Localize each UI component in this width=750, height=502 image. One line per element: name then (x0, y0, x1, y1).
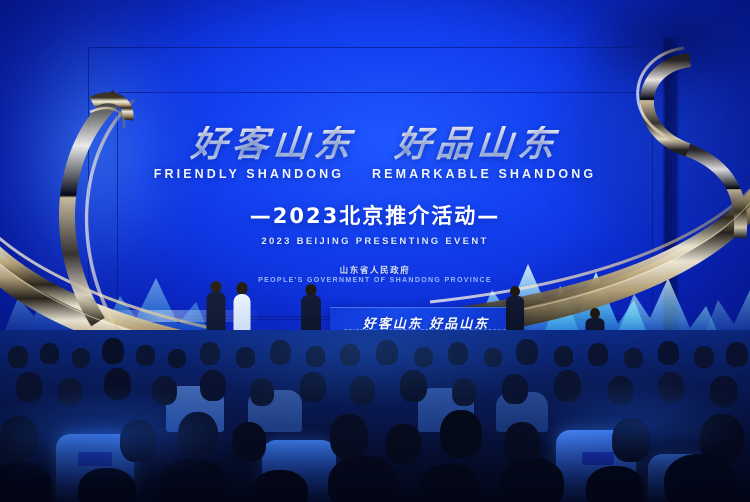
audience-area (0, 330, 750, 502)
audience-head (58, 378, 82, 406)
audience-head (414, 347, 433, 367)
audience-head-front (664, 454, 736, 502)
chair-name-plate (582, 452, 614, 465)
audience-head (232, 422, 266, 462)
audience-head (554, 346, 573, 367)
audience-head (440, 410, 482, 458)
audience-head (400, 370, 427, 402)
audience-head (624, 348, 643, 368)
main-title-en-remarkable: REMARKABLE SHANDONG (372, 167, 596, 181)
audience-head-front (252, 470, 308, 502)
audience-head-front (0, 462, 52, 502)
audience-head (376, 340, 398, 365)
audience-head (588, 343, 608, 366)
audience-head-front (328, 456, 398, 502)
audience-head (0, 416, 38, 460)
audience-head-front (500, 458, 564, 502)
audience-head (250, 378, 274, 406)
event-title-en: 2023 BEIJING PRESENTING EVENT (0, 236, 750, 247)
audience-head (386, 424, 421, 464)
audience-head (40, 343, 59, 364)
audience-head (168, 349, 186, 368)
audience-head (694, 346, 714, 368)
audience-head (658, 341, 679, 365)
event-title-cn: —2023北京推介活动— (0, 200, 750, 230)
audience-head (452, 378, 476, 406)
audience-head-front (586, 466, 644, 502)
audience-head (136, 345, 155, 366)
audience-head (710, 376, 738, 407)
audience-head (152, 376, 177, 405)
audience-head (104, 368, 131, 400)
main-title-cn-friendly: 好客山东 (189, 126, 356, 162)
audience-head (16, 372, 42, 402)
chair-name-plate (78, 452, 112, 466)
audience-head (8, 346, 28, 368)
audience-head (200, 342, 220, 365)
audience-head (236, 347, 255, 368)
audience-head (270, 340, 291, 365)
audience-head (178, 412, 218, 458)
led-title-block: 好客山东 好品山东 FRIENDLY SHANDONG REMARKABLE S… (0, 126, 750, 247)
audience-head (658, 372, 684, 402)
audience-head (102, 338, 124, 364)
audience-head (340, 344, 360, 366)
audience-head (120, 420, 156, 462)
audience-head (612, 418, 650, 462)
audience-head (350, 376, 375, 405)
audience-head-front (420, 464, 480, 502)
audience-head (516, 339, 538, 365)
audience-head (330, 414, 368, 459)
audience-head (306, 346, 325, 367)
audience-head (72, 348, 90, 368)
main-title-en-row: FRIENDLY SHANDONG REMARKABLE SHANDONG (0, 167, 750, 181)
audience-head-front (78, 468, 136, 502)
audience-head (554, 370, 581, 402)
audience-head (502, 374, 528, 404)
audience-head-front (160, 458, 226, 502)
stage-photo: 好客山东 好品山东 FRIENDLY SHANDONG REMARKABLE S… (0, 0, 750, 502)
audience-head (300, 372, 326, 402)
main-title-cn-row: 好客山东 好品山东 (0, 126, 750, 162)
audience-head (484, 348, 502, 367)
audience-head (448, 342, 468, 365)
main-title-cn-remarkable: 好品山东 (393, 126, 560, 162)
organizer-name-en: PEOPLE'S GOVERNMENT OF SHANDONG PROVINCE (0, 277, 750, 284)
audience-head (200, 370, 226, 401)
organizer-name-cn: 山东省人民政府 (0, 264, 750, 276)
main-title-en-friendly: FRIENDLY SHANDONG (154, 167, 344, 181)
audience-head (726, 342, 748, 367)
audience-head (608, 376, 633, 405)
